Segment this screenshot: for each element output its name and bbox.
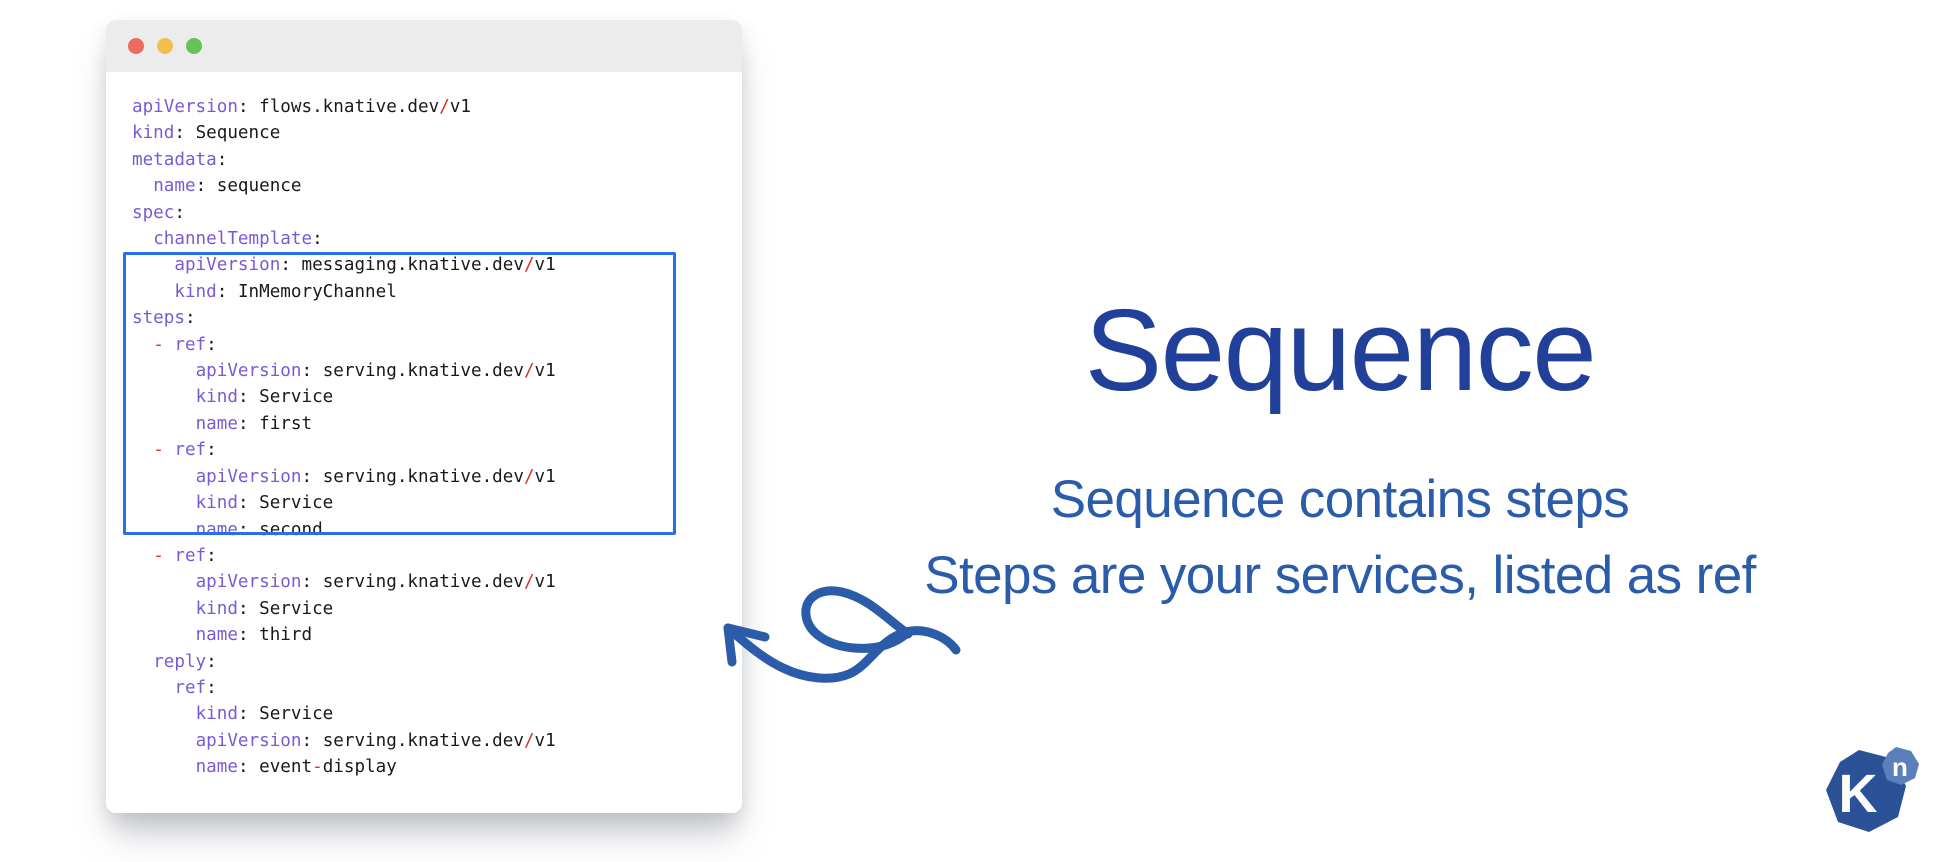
zoom-button[interactable] xyxy=(186,38,202,54)
yaml-code-block[interactable]: apiVersion: flows.knative.dev/v1 kind: S… xyxy=(106,94,742,781)
arrow-annotation-icon xyxy=(672,562,972,692)
close-button[interactable] xyxy=(128,38,144,54)
code-window: apiVersion: flows.knative.dev/v1 kind: S… xyxy=(106,20,742,813)
slide-root: apiVersion: flows.knative.dev/v1 kind: S… xyxy=(0,0,1960,862)
subtitle-line-1: Sequence contains steps xyxy=(790,462,1890,538)
code-body: apiVersion: flows.knative.dev/v1 kind: S… xyxy=(106,72,742,813)
logo-letter-k: K xyxy=(1839,764,1878,824)
page-title: Sequence xyxy=(840,290,1840,411)
knative-logo: K n xyxy=(1812,742,1922,842)
window-title-bar xyxy=(106,20,742,72)
logo-letter-n: n xyxy=(1892,752,1908,782)
minimize-button[interactable] xyxy=(157,38,173,54)
